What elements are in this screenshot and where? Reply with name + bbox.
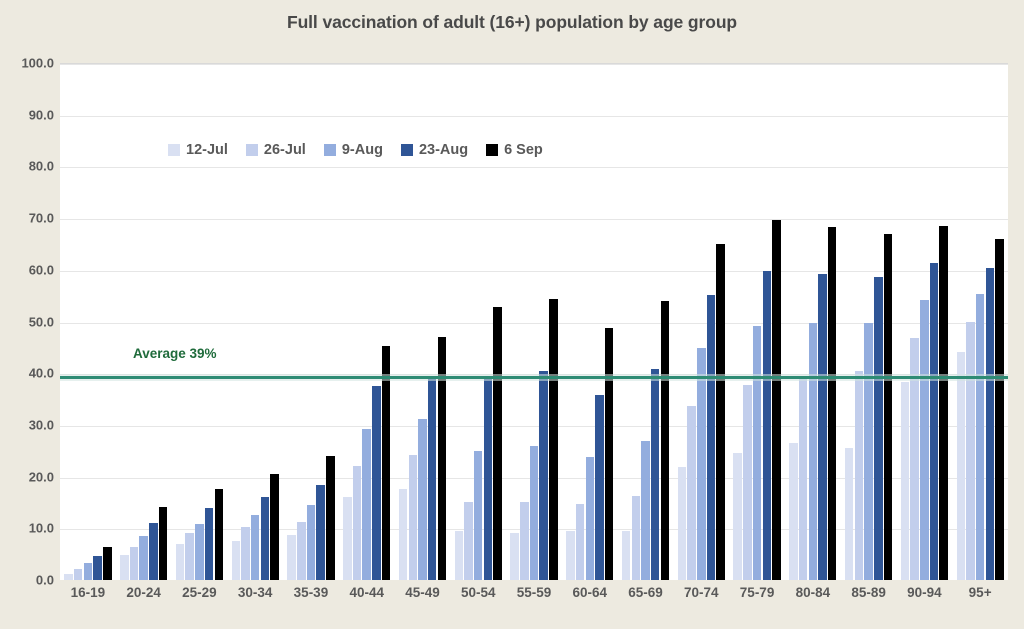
bar-group [562, 64, 618, 580]
bar [474, 451, 483, 580]
y-axis-tick-label: 40.0 [0, 366, 54, 381]
bar [743, 385, 752, 580]
y-axis-tick-label: 50.0 [0, 314, 54, 329]
bar [316, 485, 325, 580]
bar [661, 301, 670, 580]
bar-group [618, 64, 674, 580]
y-axis-tick-label: 60.0 [0, 262, 54, 277]
bar [549, 299, 558, 580]
bar [632, 496, 641, 580]
bar [493, 307, 502, 580]
bar [520, 502, 529, 580]
legend-swatch-icon [246, 144, 258, 156]
chart-title: Full vaccination of adult (16+) populati… [0, 12, 1024, 33]
x-axis-tick-label: 45-49 [395, 585, 451, 615]
y-axis-tick-label: 30.0 [0, 417, 54, 432]
legend-label: 23-Aug [419, 142, 468, 158]
bar [362, 429, 371, 580]
y-axis-tick-label: 100.0 [0, 56, 54, 71]
bar [287, 535, 296, 580]
bar [957, 352, 966, 580]
bar-group [673, 64, 729, 580]
bar [733, 453, 742, 580]
bar [789, 443, 798, 580]
bar [307, 505, 316, 580]
bar [261, 497, 270, 580]
legend: 12-Jul26-Jul9-Aug23-Aug6 Sep [168, 142, 543, 158]
bar [120, 555, 129, 580]
legend-label: 9-Aug [342, 142, 383, 158]
x-axis-tick-label: 25-29 [172, 585, 228, 615]
bar [845, 448, 854, 580]
bar [464, 502, 473, 580]
bar [763, 271, 772, 580]
bar [809, 323, 818, 580]
bar [539, 371, 548, 580]
bar [753, 326, 762, 580]
y-axis-tick-label: 90.0 [0, 107, 54, 122]
bar [566, 531, 575, 580]
x-axis-tick-label: 75-79 [729, 585, 785, 615]
legend-item[interactable]: 23-Aug [401, 142, 468, 158]
legend-item[interactable]: 9-Aug [324, 142, 383, 158]
bar [409, 455, 418, 580]
bar [130, 547, 139, 580]
bar-group [729, 64, 785, 580]
bar [874, 277, 883, 580]
legend-swatch-icon [324, 144, 336, 156]
bar [920, 300, 929, 580]
x-axis-tick-label: 95+ [952, 585, 1008, 615]
x-axis-tick-label: 50-54 [450, 585, 506, 615]
bar [772, 220, 781, 580]
bar [678, 467, 687, 580]
bar-group [60, 64, 116, 580]
bar [622, 531, 631, 580]
bar [455, 531, 464, 580]
bar-group [896, 64, 952, 580]
bar [139, 536, 148, 580]
legend-swatch-icon [168, 144, 180, 156]
y-axis: 0.010.020.030.040.050.060.070.080.090.01… [0, 63, 54, 580]
bar [576, 504, 585, 580]
bar [64, 574, 73, 580]
bar [297, 522, 306, 580]
bar [74, 569, 83, 580]
legend-item[interactable]: 26-Jul [246, 142, 306, 158]
x-axis-tick-label: 55-59 [506, 585, 562, 615]
bar [939, 226, 948, 580]
bar [799, 376, 808, 580]
bar [595, 395, 604, 580]
x-axis-tick-label: 90-94 [896, 585, 952, 615]
x-axis-tick-label: 35-39 [283, 585, 339, 615]
x-axis-tick-label: 85-89 [841, 585, 897, 615]
y-axis-tick-label: 10.0 [0, 521, 54, 536]
bar [855, 371, 864, 580]
bar [976, 294, 985, 580]
bar [418, 419, 427, 580]
legend-label: 6 Sep [504, 142, 543, 158]
bar [510, 533, 519, 580]
x-axis-tick-label: 70-74 [673, 585, 729, 615]
legend-swatch-icon [401, 144, 413, 156]
bar [399, 489, 408, 581]
bar [195, 524, 204, 580]
y-axis-tick-label: 80.0 [0, 159, 54, 174]
legend-item[interactable]: 6 Sep [486, 142, 543, 158]
bar [103, 547, 112, 580]
bar-group [116, 64, 172, 580]
bar [241, 527, 250, 580]
chart-container: Full vaccination of adult (16+) populati… [0, 0, 1024, 629]
y-axis-tick-label: 20.0 [0, 469, 54, 484]
legend-item[interactable]: 12-Jul [168, 142, 228, 158]
bar [232, 541, 241, 580]
bar [438, 337, 447, 581]
bar [828, 227, 837, 580]
legend-label: 12-Jul [186, 142, 228, 158]
x-axis-tick-label: 65-69 [618, 585, 674, 615]
bar [707, 295, 716, 580]
bar [159, 507, 168, 580]
bar [372, 386, 381, 580]
bar [930, 263, 939, 580]
bar-group [841, 64, 897, 580]
bar [884, 234, 893, 580]
bar [605, 328, 614, 580]
bar [84, 563, 93, 580]
bar [818, 274, 827, 580]
x-axis-tick-label: 40-44 [339, 585, 395, 615]
x-axis-tick-label: 20-24 [116, 585, 172, 615]
y-axis-tick-label: 70.0 [0, 211, 54, 226]
y-axis-tick-label: 0.0 [0, 573, 54, 588]
bar [901, 382, 910, 580]
bar [986, 268, 995, 580]
bar [641, 441, 650, 580]
bar [966, 322, 975, 581]
average-line [60, 376, 1008, 379]
bar [215, 489, 224, 580]
bar [651, 369, 660, 580]
average-line-label: Average 39% [133, 346, 217, 361]
bar [176, 544, 185, 580]
bar-group [952, 64, 1008, 580]
bar [586, 457, 595, 580]
legend-label: 26-Jul [264, 142, 306, 158]
x-axis-tick-label: 60-64 [562, 585, 618, 615]
bar [205, 508, 214, 580]
bar [149, 523, 158, 580]
bar [697, 348, 706, 580]
bar [484, 376, 493, 580]
bar [716, 244, 725, 580]
bar [185, 533, 194, 580]
bar [995, 239, 1004, 580]
legend-swatch-icon [486, 144, 498, 156]
bar [343, 497, 352, 580]
bar [251, 515, 260, 580]
x-axis: 16-1920-2425-2930-3435-3940-4445-4950-54… [60, 585, 1008, 615]
bar [326, 456, 335, 580]
bar [270, 474, 279, 581]
x-axis-tick-label: 80-84 [785, 585, 841, 615]
bar [353, 466, 362, 580]
x-axis-tick-label: 16-19 [60, 585, 116, 615]
bar [530, 446, 539, 580]
bar [428, 376, 437, 580]
bar-group [785, 64, 841, 580]
bar [864, 323, 873, 580]
plot-area [60, 63, 1008, 580]
bar [93, 556, 102, 580]
bar [687, 406, 696, 580]
x-axis-tick-label: 30-34 [227, 585, 283, 615]
